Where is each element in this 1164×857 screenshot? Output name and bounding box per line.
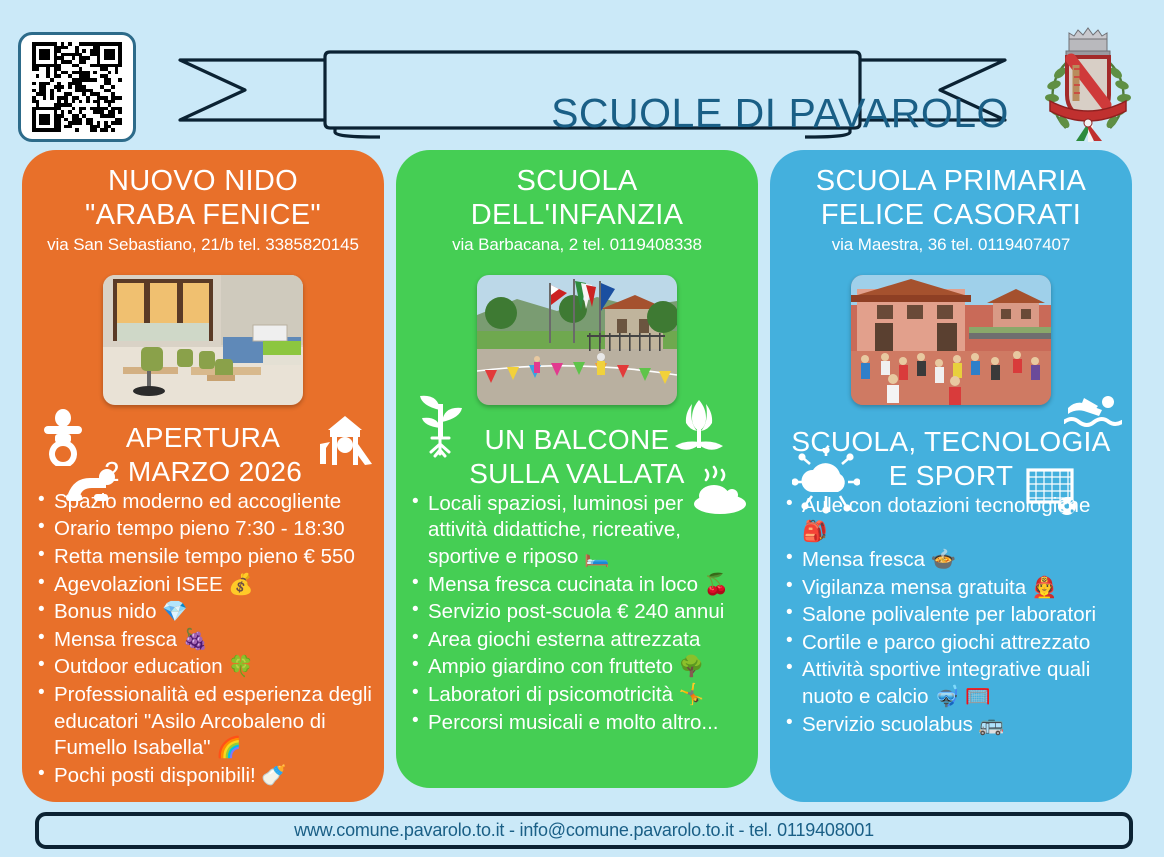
card-infanzia-header: SCUOLA DELL'INFANZIA via Barbacana, 2 te… [396, 150, 758, 255]
card-primaria-bullets: Aule con dotazioni tecnologiche 🎒 Mensa … [770, 493, 1132, 739]
title-banner: SCUOLE DI PAVAROLO [175, 40, 1010, 140]
list-item: Laboratori di psicomotricità 🤸 [412, 682, 746, 709]
card-primaria-title-line1: SCUOLA PRIMARIA [770, 164, 1132, 198]
footer-contact-bar[interactable]: www.comune.pavarolo.to.it - info@comune.… [35, 812, 1133, 849]
comune-crest-icon [1036, 25, 1140, 145]
card-infanzia-headline-line2: SULLA VALLATA [396, 457, 758, 491]
list-item: Ampio giardino con frutteto 🌳 [412, 654, 746, 681]
qr-code[interactable] [18, 32, 136, 142]
list-item: Servizio post-scuola € 240 annui [412, 599, 746, 626]
card-nido-header: NUOVO NIDO "ARABA FENICE" via San Sebast… [22, 150, 384, 255]
card-primaria-headline: SCUOLA, TECNOLOGIA E SPORT [770, 425, 1132, 492]
card-infanzia-address: via Barbacana, 2 tel. 0119408338 [396, 235, 758, 255]
list-item: Area giochi esterna attrezzata [412, 627, 746, 654]
card-primaria-headline-line1: SCUOLA, TECNOLOGIA [770, 425, 1132, 459]
card-infanzia-headline-line1: UN BALCONE [396, 423, 758, 457]
page-title: SCUOLE DI PAVAROLO [505, 82, 1055, 144]
card-primaria-address: via Maestra, 36 tel. 0119407407 [770, 235, 1132, 255]
card-nuovo-nido[interactable]: NUOVO NIDO "ARABA FENICE" via San Sebast… [22, 150, 384, 802]
list-item: Locali spaziosi, luminosi per attività d… [412, 491, 746, 571]
card-primaria-title-line2: FELICE CASORATI [770, 198, 1132, 232]
list-item: Cortile e parco giochi attrezzato [786, 630, 1120, 657]
card-nido-headline-line1: APERTURA [22, 421, 384, 455]
card-infanzia-title-line2: DELL'INFANZIA [396, 198, 758, 232]
list-item: Professionalità ed esperienza degli educ… [38, 682, 372, 762]
card-infanzia-bullets: Locali spaziosi, luminosi per attività d… [396, 491, 758, 737]
card-nido-address: via San Sebastiano, 21/b tel. 3385820145 [22, 235, 384, 255]
card-infanzia-title-line1: SCUOLA [396, 164, 758, 198]
list-item: Mensa fresca 🍇 [38, 627, 372, 654]
list-item: Vigilanza mensa gratuita 🧑‍🚒 [786, 575, 1120, 602]
list-item: Bonus nido 💎 [38, 599, 372, 626]
photo-nido-classroom [103, 275, 303, 405]
photo-infanzia-cortile [477, 275, 677, 405]
list-item: Orario tempo pieno 7:30 - 18:30 [38, 516, 372, 543]
poster-root: SCUOLE DI PAVAROLO [0, 0, 1164, 857]
footer-contact-text: www.comune.pavarolo.to.it - info@comune.… [294, 820, 874, 841]
photo-primaria-cortile [851, 275, 1051, 405]
card-nido-bullets: Spazio moderno ed accogliente Orario tem… [22, 489, 384, 790]
list-item: Servizio scuolabus 🚌 [786, 712, 1120, 739]
list-item: Retta mensile tempo pieno € 550 [38, 544, 372, 571]
card-scuola-infanzia[interactable]: SCUOLA DELL'INFANZIA via Barbacana, 2 te… [396, 150, 758, 788]
list-item: Spazio moderno ed accogliente [38, 489, 372, 516]
list-item: Pochi posti disponibili! 🍼 [38, 763, 372, 790]
card-scuola-primaria[interactable]: SCUOLA PRIMARIA FELICE CASORATI via Maes… [770, 150, 1132, 802]
list-item: Mensa fresca 🍲 [786, 547, 1120, 574]
card-primaria-header: SCUOLA PRIMARIA FELICE CASORATI via Maes… [770, 150, 1132, 255]
list-item: Agevolazioni ISEE 💰 [38, 572, 372, 599]
card-nido-headline: APERTURA 2 MARZO 2026 [22, 421, 384, 488]
list-item: Percorsi musicali e molto altro... [412, 710, 746, 737]
list-item: Salone polivalente per laboratori [786, 602, 1120, 629]
card-nido-title-line2: "ARABA FENICE" [22, 198, 384, 232]
card-nido-title-line1: NUOVO NIDO [22, 164, 384, 198]
qr-code-matrix [32, 42, 122, 132]
card-primaria-headline-line2: E SPORT [770, 459, 1132, 493]
list-item: Aule con dotazioni tecnologiche 🎒 [786, 493, 1120, 546]
list-item: Attività sportive integrative quali nuot… [786, 657, 1120, 710]
card-infanzia-headline: UN BALCONE SULLA VALLATA [396, 423, 758, 490]
list-item: Outdoor education 🍀 [38, 654, 372, 681]
list-item: Mensa fresca cucinata in loco 🍒 [412, 572, 746, 599]
card-nido-headline-line2: 2 MARZO 2026 [22, 455, 384, 489]
